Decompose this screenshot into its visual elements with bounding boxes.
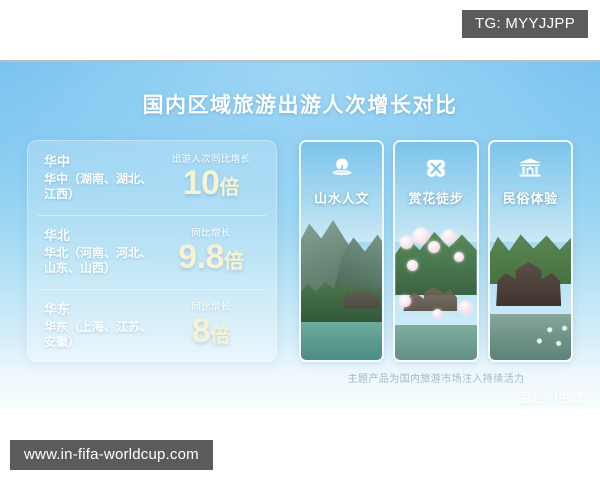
stat-region-block: 华中 华中（湖南、湖北、江西） [44,154,156,203]
card-label: 民俗体验 [490,188,571,207]
theme-card-folk[interactable]: 民俗体验 [488,140,573,362]
stat-metric-block: 出游人次同比增长 10倍 [156,155,264,200]
source-url-watermark: www.in-fifa-worldcup.com [10,440,213,470]
stat-row: 华北 华北（河南、河北、山东、山西） 同比增长 9.8倍 [28,215,276,289]
regional-stats-panel: 华中 华中（湖南、湖北、江西） 出游人次同比增长 10倍 华北 华北（河南、河北… [27,140,277,362]
blossom-flower-icon [395,156,476,185]
metric-label: 同比增长 [158,303,264,313]
blossom-cluster [459,301,472,314]
region-detail: 华东（上海、江苏、安徽） [44,320,156,351]
blossom-cluster [400,236,413,249]
region-name: 华中 [44,154,156,170]
metric-value: 8倍 [158,314,264,349]
stat-row: 华东 华东（上海、江苏、安徽） 同比增长 8倍 [28,289,276,363]
traditional-building-icon [490,156,571,185]
metric-unit: 倍 [224,251,244,273]
stat-metric-block: 同比增长 8倍 [156,303,264,348]
pond-shape [395,325,476,360]
blossom-cluster [399,295,411,307]
card-photo-blossom [395,225,476,360]
theme-card-landscape[interactable]: 山水人文 [299,140,384,362]
metric-value: 10倍 [158,166,264,201]
blossom-cluster [454,252,464,262]
stat-row: 华中 华中（湖南、湖北、江西） 出游人次同比增长 10倍 [28,141,276,215]
blossom-cluster [433,309,442,318]
blossom-cluster [413,228,429,244]
region-name: 华北 [44,228,156,244]
card-label: 赏花徒步 [395,188,476,207]
blossom-cluster [428,241,440,253]
mountain-landscape-icon [301,156,382,185]
region-detail: 华北（河南、河北、山东、山西） [44,246,156,277]
poster-caption: 主题产品为国内旅游市场注入持续活力 [299,370,573,385]
card-label: 山水人文 [301,188,382,207]
white-flowers-shape [532,317,569,358]
theme-card-blossom[interactable]: 赏花徒步 [393,140,478,362]
theme-card-group: 山水人文 [299,140,573,362]
metric-unit: 倍 [219,177,239,199]
region-name: 华东 [44,302,156,318]
top-watermark-bar: TG: MYYJJPP [0,0,600,62]
metric-number: 8 [192,312,210,350]
card-photo-folk [490,225,571,360]
region-detail: 华中（湖南、湖北、江西） [44,172,156,203]
page-title: 国内区域旅游出游人次增长对比 [0,89,600,119]
stat-region-block: 华东 华东（上海、江苏、安徽） [44,302,156,351]
river-shape [301,322,382,360]
card-photo-landscape [301,225,382,360]
stat-region-block: 华北 华北（河南、河北、山东、山西） [44,228,156,277]
ai-generated-badge: 豆包AI生成 [520,389,583,406]
infographic-poster: 国内区域旅游出游人次增长对比 华中 华中（湖南、湖北、江西） 出游人次同比增长 … [0,62,600,408]
metric-unit: 倍 [210,325,230,347]
metric-number: 9.8 [178,238,224,276]
metric-number: 10 [183,164,220,202]
telegram-watermark: TG: MYYJJPP [462,10,588,38]
metric-value: 9.8倍 [158,240,264,275]
blossom-cluster [407,260,418,271]
stat-metric-block: 同比增长 9.8倍 [156,229,264,274]
